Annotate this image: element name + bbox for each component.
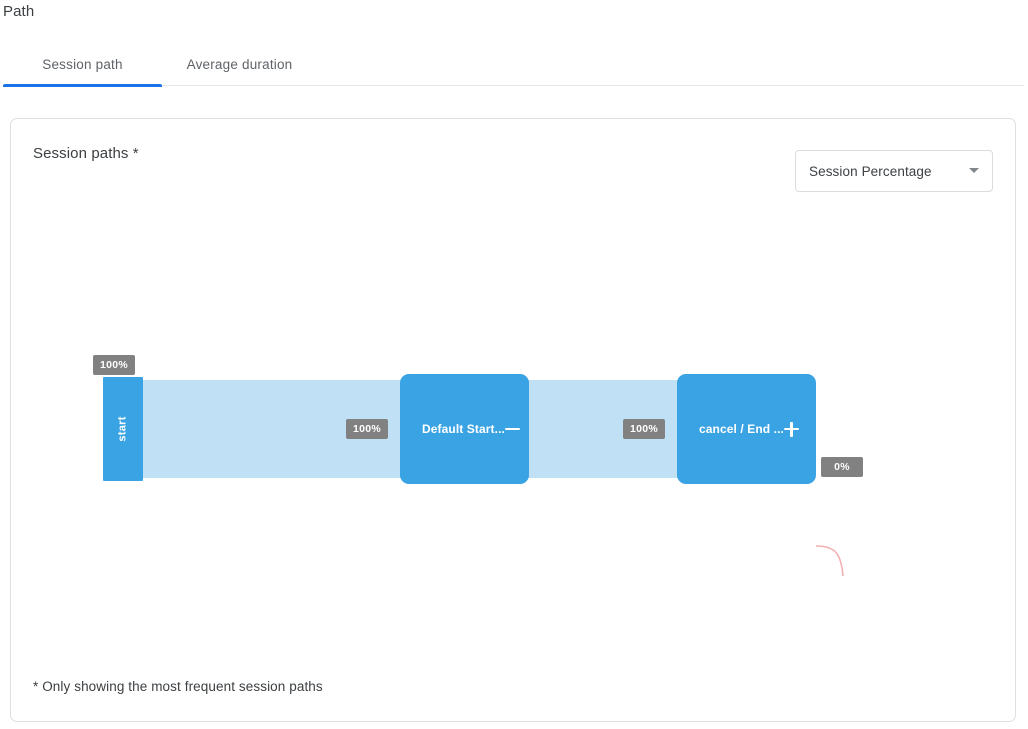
sankey-dropoff-curve (811, 529, 881, 599)
tab-bar: Session path Average duration (0, 43, 1024, 88)
metric-select-value: Session Percentage (809, 151, 932, 191)
path-report-page: Path Session path Average duration Sessi… (0, 0, 1028, 729)
metric-select[interactable]: Session Percentage (795, 150, 993, 192)
sankey-node-cancel-end[interactable]: cancel / End ... (677, 374, 816, 484)
sankey-badge-start-to-default-start: 100% (346, 419, 388, 439)
sankey-node-default-start-inner: Default Start... (400, 374, 529, 484)
sankey-node-start-label: start (117, 416, 129, 441)
sankey-diagram: start Default Start... cancel / End ... … (11, 119, 1017, 679)
sankey-badge-start: 100% (93, 355, 135, 375)
sankey-node-start[interactable]: start (103, 377, 143, 481)
sankey-badge-default-start-to-cancel-end: 100% (623, 419, 665, 439)
sankey-node-start-label-wrap: start (103, 377, 143, 481)
tab-average-duration[interactable]: Average duration (162, 43, 317, 85)
tab-active-indicator (3, 84, 162, 87)
chevron-down-icon (969, 168, 979, 173)
sankey-node-cancel-end-inner: cancel / End ... (677, 374, 816, 484)
sankey-badge-dropoff: 0% (821, 457, 863, 477)
page-title: Path (3, 3, 34, 20)
tab-session-path-label: Session path (42, 57, 122, 72)
session-paths-card: Session paths * Session Percentage start (10, 118, 1016, 722)
minus-icon[interactable] (505, 422, 520, 437)
sankey-node-default-start[interactable]: Default Start... (400, 374, 529, 484)
card-title: Session paths * (33, 145, 139, 162)
tab-session-path[interactable]: Session path (3, 43, 162, 85)
plus-icon[interactable] (784, 422, 799, 437)
tab-average-duration-label: Average duration (187, 57, 293, 72)
sankey-node-cancel-end-label: cancel / End ... (699, 422, 784, 436)
card-footnote: * Only showing the most frequent session… (33, 679, 323, 694)
sankey-node-default-start-label: Default Start... (422, 422, 505, 436)
